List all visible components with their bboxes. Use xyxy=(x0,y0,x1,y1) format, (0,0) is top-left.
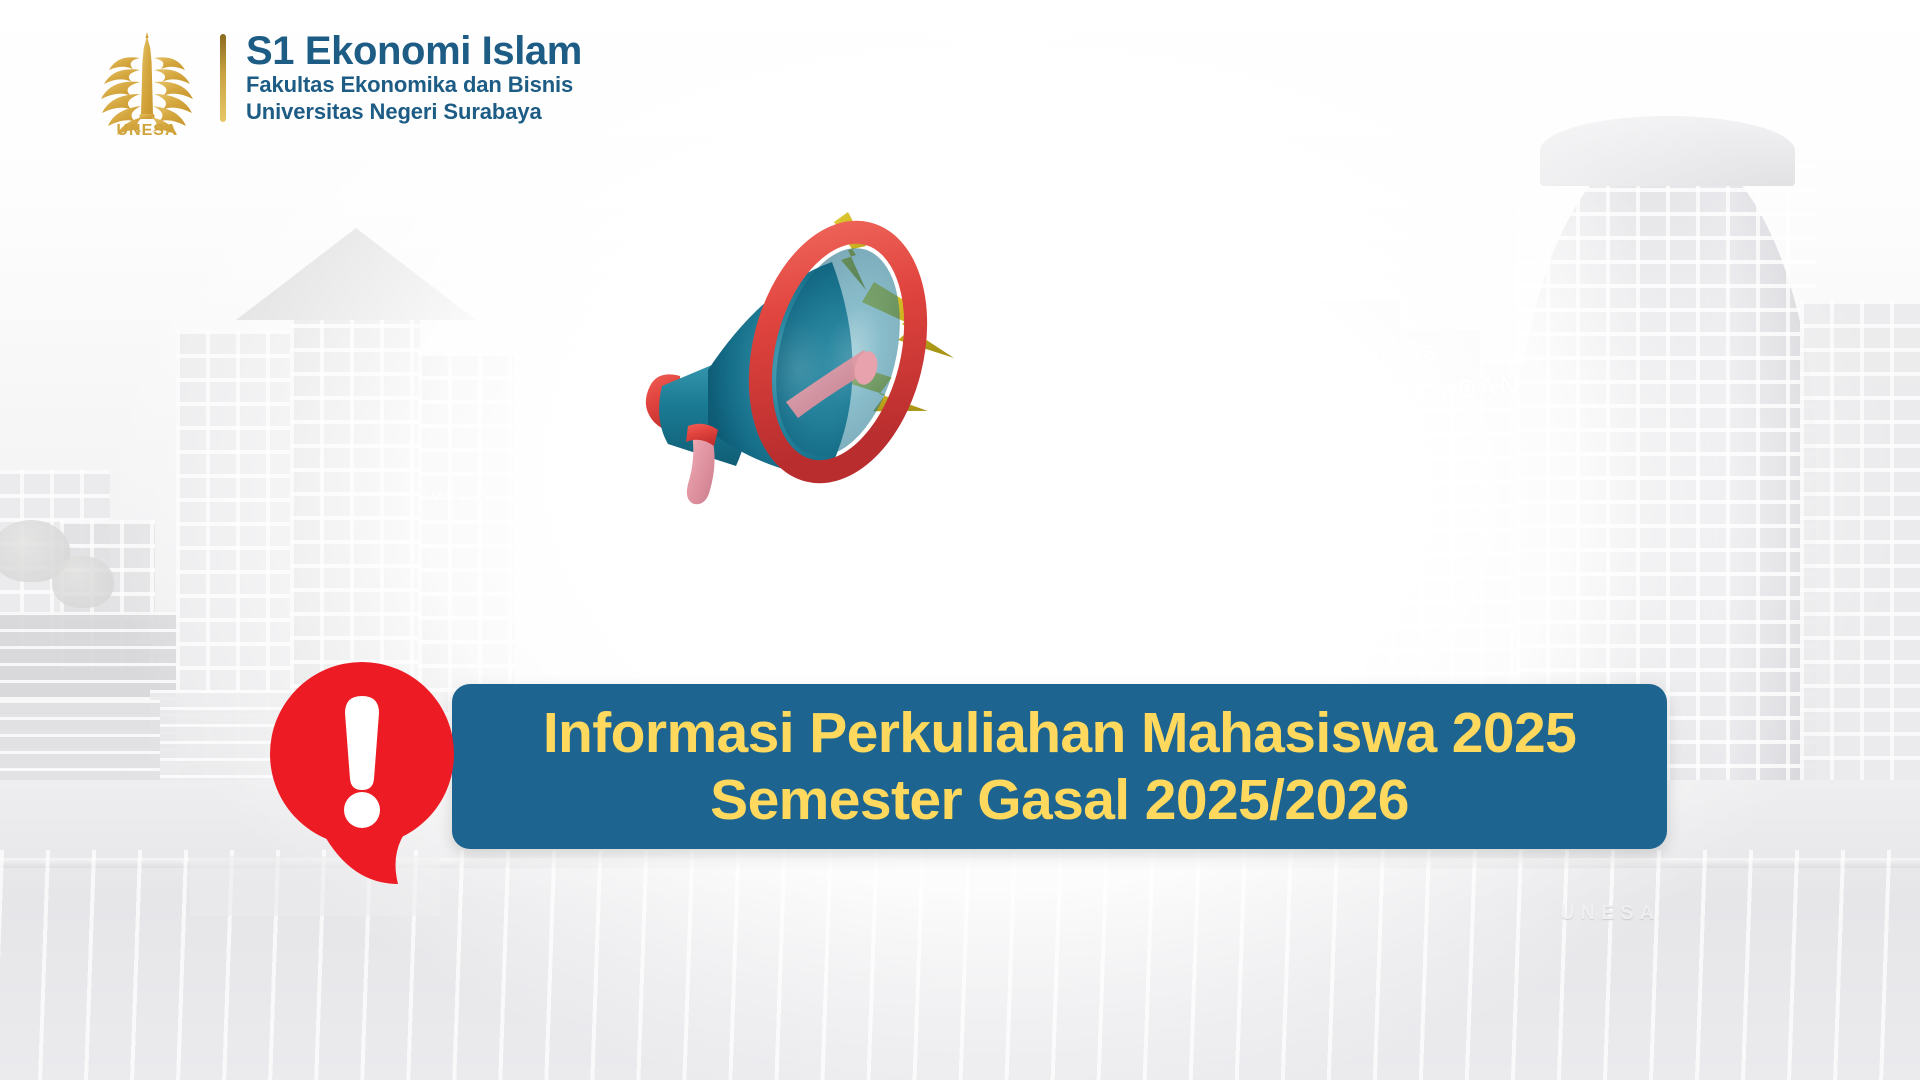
campus-background-photo: UNESA FAKULTAS EKONOMIKA DAN BISNIS UNES… xyxy=(0,0,1920,1080)
megaphone-icon xyxy=(590,190,1020,530)
background-fade-overlay xyxy=(0,0,1920,1080)
header-divider xyxy=(220,34,226,122)
headline-line-1: Informasi Perkuliahan Mahasiswa 2025 xyxy=(543,701,1576,765)
headline-text: Informasi Perkuliahan Mahasiswa 2025 Sem… xyxy=(503,700,1616,832)
poster-canvas: UNESA FAKULTAS EKONOMIKA DAN BISNIS UNES… xyxy=(0,0,1920,1080)
exclamation-mark xyxy=(344,696,380,828)
unesa-wordmark: UNESA xyxy=(88,122,206,140)
alert-exclamation-pin xyxy=(268,660,468,890)
headline-banner: Informasi Perkuliahan Mahasiswa 2025 Sem… xyxy=(452,684,1667,849)
headline-line-2: Semester Gasal 2025/2026 xyxy=(543,767,1576,833)
program-title: S1 Ekonomi Islam xyxy=(246,30,582,72)
header-brand-block: UNESA S1 Ekonomi Islam Fakultas Ekonomik… xyxy=(88,28,582,140)
header-titles: S1 Ekonomi Islam Fakultas Ekonomika dan … xyxy=(246,28,582,126)
faculty-title: Fakultas Ekonomika dan Bisnis xyxy=(246,72,582,99)
university-title: Universitas Negeri Surabaya xyxy=(246,99,582,126)
unesa-logo: UNESA xyxy=(88,28,206,140)
